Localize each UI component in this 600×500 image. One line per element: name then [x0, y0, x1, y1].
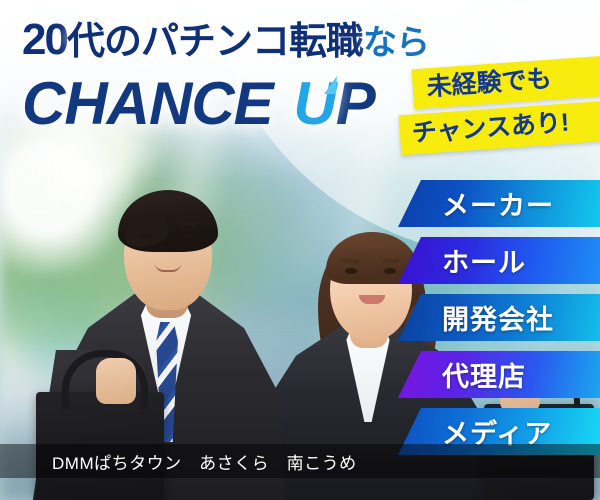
category-button-agency[interactable]: 代理店	[398, 351, 600, 398]
ad-banner[interactable]: 20代のパチンコ転職なら CHANCE UP 未経験でも チャンスあり! メーカ…	[0, 0, 600, 500]
category-label-hall: ホール	[442, 241, 526, 280]
man-hair	[118, 190, 218, 252]
man-hand	[96, 358, 136, 404]
man-eye-right	[182, 233, 195, 238]
category-list: メーカー ホール 開発会社 代理店 メディア	[398, 180, 600, 465]
headline-number: 20	[22, 15, 67, 64]
woman-eye-left	[345, 268, 357, 274]
promo-badge: 未経験でも チャンスあり!	[394, 56, 600, 155]
man-eye-left	[139, 233, 152, 238]
woman-eye-right	[384, 268, 396, 274]
category-button-hall[interactable]: ホール	[398, 237, 600, 284]
logo-word-chance: CHANCE	[22, 70, 273, 137]
headline-suffix: なら	[363, 24, 429, 62]
category-label-developer: 開発会社	[442, 298, 554, 337]
caption-bar: DMMぱちタウン あさくら 南こうめ	[0, 444, 600, 478]
headline-main: 代のパチンコ転職	[67, 21, 363, 63]
category-label-maker: メーカー	[442, 184, 554, 223]
logo-chance-up: CHANCE UP	[22, 74, 375, 134]
caption-text: DMMぱちタウン あさくら 南こうめ	[52, 449, 357, 474]
category-button-developer[interactable]: 開発会社	[398, 294, 600, 341]
headline: 20代のパチンコ転職なら	[22, 18, 429, 62]
logo-letter-u-arrow: U	[293, 74, 335, 134]
category-button-maker[interactable]: メーカー	[398, 180, 600, 227]
category-label-agency: 代理店	[442, 355, 526, 394]
logo-letter-p: P	[336, 70, 375, 137]
